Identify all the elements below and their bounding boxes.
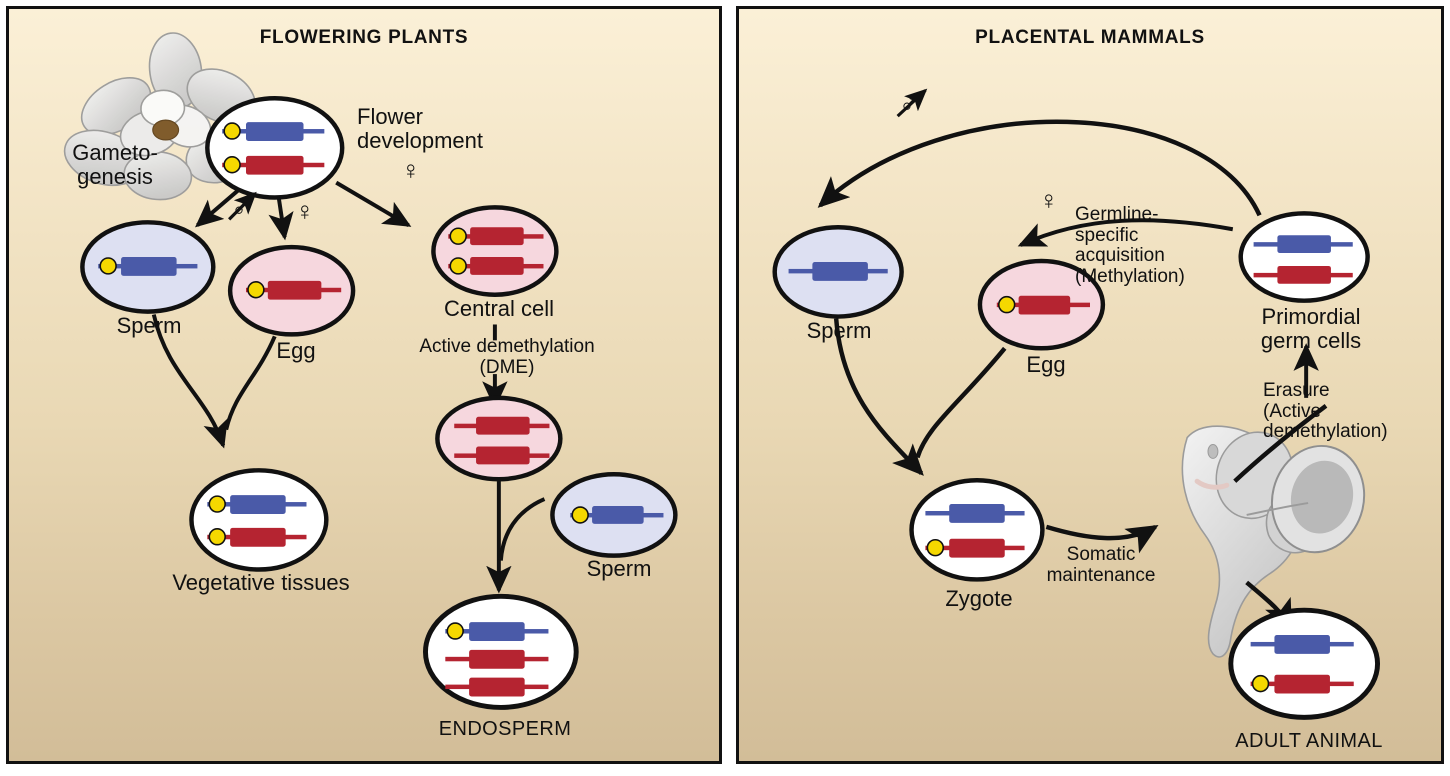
cell-central-cell-demethylated: [437, 398, 560, 479]
cell-mammal-sperm: [775, 227, 902, 316]
label-endosperm: ENDOSPERM: [439, 719, 572, 741]
label-egg: Egg: [276, 339, 315, 363]
label-central-cell: Central cell: [444, 297, 554, 321]
cell-primordial-germ-cells: [1241, 213, 1368, 300]
cell-plant-egg: [230, 247, 353, 334]
cell-central-cell: [433, 207, 556, 294]
label-gametogenesis: Gameto- genesis: [72, 141, 158, 189]
arrow-to-central-cell: [336, 183, 408, 226]
cell-plant-sperm-2: [552, 474, 675, 555]
cell-adult-animal: [1231, 610, 1378, 717]
cell-zygote: [912, 480, 1043, 579]
figure-canvas: FLOWERING PLANTS: [0, 0, 1450, 776]
arrow-egg-to-zygote: [917, 348, 1004, 457]
female-symbol-gametogenesis: ♀: [295, 198, 315, 224]
arrow-zygote-to-embryo: [1046, 527, 1155, 538]
arrow-egg-to-vegetative: [226, 336, 275, 429]
label-erasure: Erasure (Active demethylation): [1263, 381, 1388, 443]
label-active-demethylation: Active demethylation (DME): [419, 337, 594, 378]
cell-plant-sperm: [82, 222, 213, 311]
label-adult-animal: ADULT ANIMAL: [1235, 731, 1382, 753]
female-symbol-egg-route: ♀: [1039, 187, 1059, 213]
female-symbol-central-cell: ♀: [401, 157, 421, 183]
cell-flower-cell: [207, 98, 342, 197]
panel-flowering-plants: FLOWERING PLANTS: [6, 6, 722, 764]
label-flower-development: Flower development: [357, 105, 483, 153]
cell-vegetative-tissues: [191, 470, 326, 569]
panel-placental-mammals: PLACENTAL MAMMALS: [736, 6, 1444, 764]
label-egg: Egg: [1026, 353, 1065, 377]
label-primordial-germ-cells: Primordial germ cells: [1261, 305, 1361, 353]
label-vegetative-tissues: Vegetative tissues: [172, 571, 349, 595]
label-somatic-maintenance: Somatic maintenance: [1047, 545, 1156, 586]
arrow-to-egg: [279, 197, 285, 237]
male-symbol-sperm-route: ♂: [899, 91, 919, 117]
arrow-sperm2-to-endosperm: [501, 499, 545, 561]
label-sperm: Sperm: [807, 319, 872, 343]
label-zygote: Zygote: [945, 587, 1012, 611]
label-germline-specific-acquisition: Germline- specific acquisition (Methylat…: [1075, 205, 1185, 287]
male-symbol-gametogenesis: ♂: [231, 195, 251, 221]
cell-endosperm: [425, 596, 576, 707]
label-sperm-2: Sperm: [587, 557, 652, 581]
label-sperm: Sperm: [117, 314, 182, 338]
